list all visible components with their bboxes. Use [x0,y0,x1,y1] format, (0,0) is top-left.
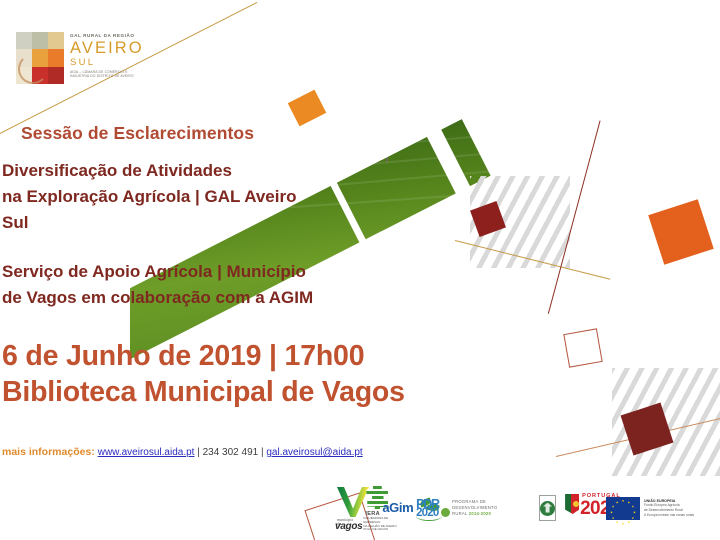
iera-fine3: POLO DE VAGOS [363,528,399,532]
email-link[interactable]: gal.aveirosul@aida.pt [266,447,362,458]
contact-phone: 234 302 491 [203,447,259,458]
pdr-mark: PDR 2020 [416,491,452,525]
body-para2: Serviço de Apoio Agrícola | Município de… [2,259,432,311]
body-para1-line1: Diversificação de Atividades [2,158,432,184]
logo-arc-icon [18,54,48,84]
body-para1-line3: Sul [2,210,432,236]
logo-kicker: GAL RURAL DA REGIÃO [70,32,156,39]
body-para2-line1: Serviço de Apoio Agrícola | Município [2,259,432,285]
event-date-time: 6 de Junho de 2019 | 17h00 [2,338,522,374]
body-para2-line2: de Vagos em colaboração com a AGIM [2,285,432,311]
logo-municipio-vagos: município de vagos [330,485,348,531]
logo-agim: aGim [382,491,407,525]
portugal-flag-icon [565,494,579,514]
logo-portugal-2020: PORTUGAL 2020 [565,491,597,525]
contact-label: mais informações: [2,446,95,458]
event-details-block: 6 de Junho de 2019 | 17h00 Biblioteca Mu… [2,338,522,410]
pdr-desc3: RURAL 2014-2020 [452,511,530,517]
agim-name: aGim [382,500,413,515]
logo-tile [48,32,64,49]
headline-sessao: Sessão de Esclarecimentos [21,123,254,144]
contact-values: www.aveirosul.aida.pt | 234 302 491 | ga… [98,447,363,458]
logo-fineprint-line2: INDÚSTRIA DO DISTRITO DE AVEIRO [70,74,156,79]
logo-wordmark: GAL RURAL DA REGIÃO AVEIRO SUL AIDA – CÂ… [70,32,156,79]
logo-tile [48,67,64,84]
pdr-year: 2020 [416,507,438,519]
eu-text: UNIÃO EUROPEIA Fundo Europeu Agrícola de… [644,499,718,517]
pdr-dot-icon [441,508,450,517]
logo-tile [48,49,64,66]
logo-icnf [539,495,556,521]
logo-uniao-europeia: UNIÃO EUROPEIA Fundo Europeu Agrícola de… [606,497,718,520]
event-venue: Biblioteca Municipal de Vagos [2,374,522,410]
logo-tile [32,32,48,49]
accent-square-outline [563,328,602,367]
contact-separator-1: | [194,447,202,458]
body-para1-line2: na Exploração Agrícola | GAL Aveiro [2,184,432,210]
aveiro-sul-logo: GAL RURAL DA REGIÃO AVEIRO SUL AIDA – CÂ… [16,32,156,84]
logo-iera: IERA INCUBADORA DE EMPRESAS DA REGIÃO DE… [357,485,373,531]
body-para1: Diversificação de Atividades na Exploraç… [2,158,432,236]
contact-line: mais informações: www.aveirosul.aida.pt … [2,446,363,458]
logo-pdr-2020: PDR 2020 PROGRAMA DE DESENVOLVIMENTO RUR… [416,491,530,525]
eu-flag-icon [606,497,640,520]
logo-tile [16,32,32,49]
logo-name: AVEIRO [70,39,156,57]
pdr-desc4: 2014-2020 [469,511,491,516]
pdr-description: PROGRAMA DE DESENVOLVIMENTO RURAL 2014-2… [452,499,530,517]
eu-title: UNIÃO EUROPEIA [644,499,675,503]
body-text-block: Diversificação de Atividades na Exploraç… [2,158,432,311]
logo-subname: SUL [70,57,156,68]
eu-line3: A Europa investe nas zonas rurais [644,513,718,518]
icnf-tree-icon [540,501,555,516]
poster-canvas: GAL RURAL DA REGIÃO AVEIRO SUL AIDA – CÂ… [0,0,720,540]
footer-logo-bar: município de vagos IERA INCUBADORA DE EM… [330,482,718,534]
website-link[interactable]: www.aveirosul.aida.pt [98,447,195,458]
